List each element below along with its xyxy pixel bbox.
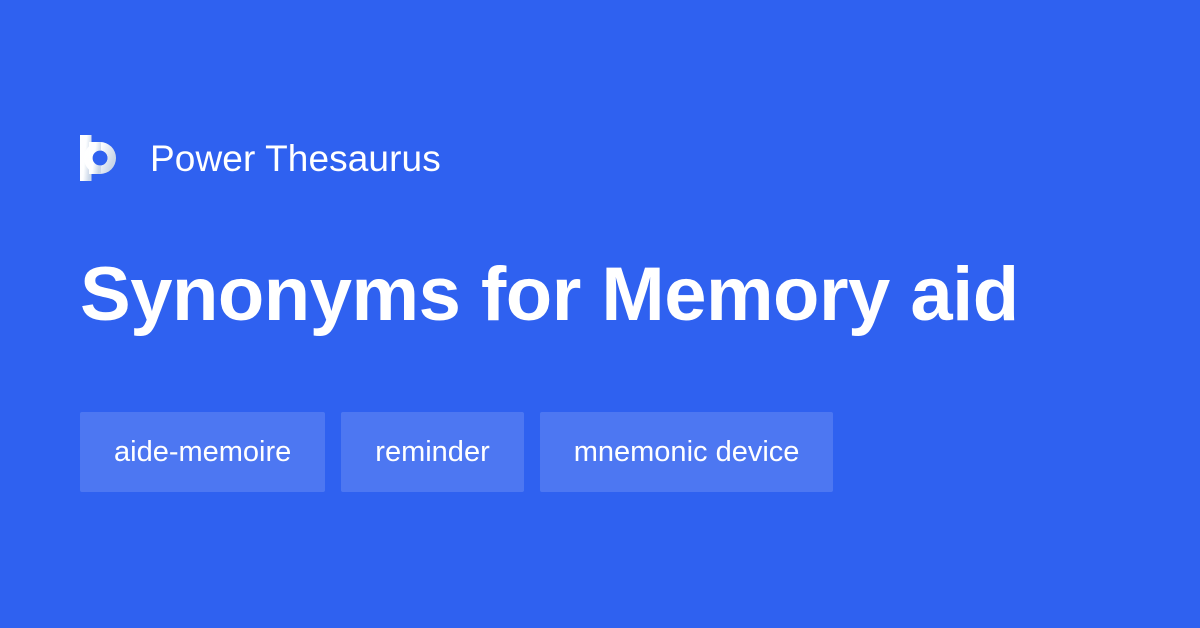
brand-name: Power Thesaurus: [150, 140, 441, 177]
power-thesaurus-b-logo-icon: [80, 135, 124, 181]
synonym-chip[interactable]: mnemonic device: [540, 412, 834, 492]
synonym-chip-list: aide-memoire reminder mnemonic device: [80, 412, 833, 492]
social-preview-card: Power Thesaurus Synonyms for Memory aid …: [0, 0, 1200, 628]
brand-header[interactable]: Power Thesaurus: [80, 130, 441, 186]
synonym-chip[interactable]: reminder: [341, 412, 523, 492]
synonym-chip[interactable]: aide-memoire: [80, 412, 325, 492]
page-title: Synonyms for Memory aid: [80, 252, 1140, 338]
